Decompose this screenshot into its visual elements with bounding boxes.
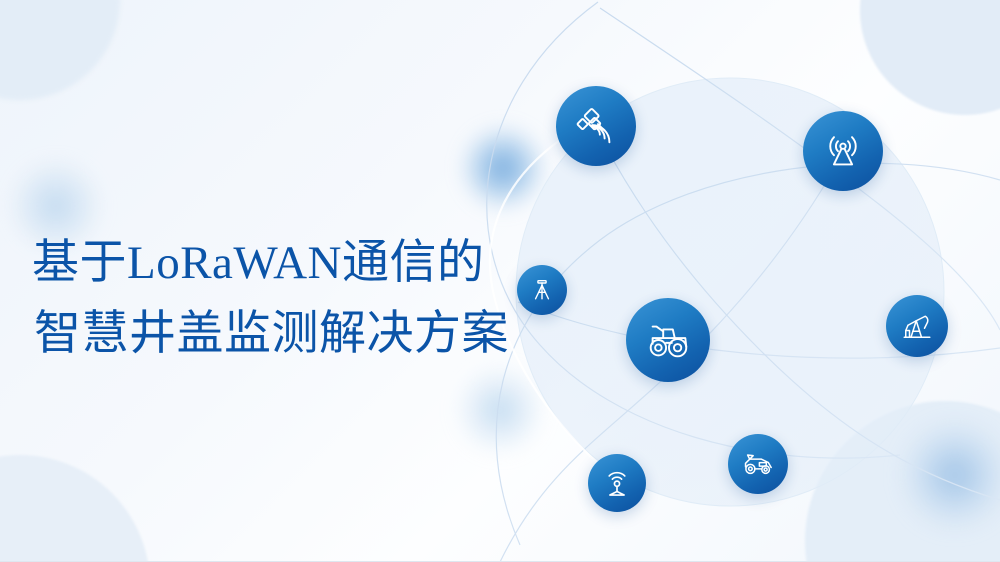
orbit-arc-6 [600, 8, 1000, 330]
node-tractor[interactable] [626, 298, 710, 382]
node-survey-tripod[interactable] [517, 265, 567, 315]
node-oil-pumpjack[interactable] [886, 295, 948, 357]
title-slide: 基于LoRaWAN通信的 智慧井盖监测解决方案 [0, 0, 1000, 562]
blur-dot-right [900, 420, 1000, 530]
harvester-icon [740, 446, 776, 482]
title-line-1: 基于LoRaWAN通信的 [32, 228, 572, 299]
node-satellite[interactable] [556, 86, 636, 166]
tractor-icon [643, 315, 693, 365]
blob-bottom-left [0, 455, 150, 562]
page-title: 基于LoRaWAN通信的 智慧井盖监测解决方案 [32, 228, 572, 371]
oil-pumpjack-icon [899, 308, 935, 344]
blob-top-right [860, 0, 1000, 115]
survey-tripod-icon [528, 276, 556, 304]
blur-dot-mid [460, 125, 546, 211]
radio-tower-icon [820, 128, 866, 174]
blob-bottom-right [805, 401, 1000, 562]
blur-dot-lower [455, 365, 545, 455]
blob-top-left [0, 0, 120, 100]
node-radio-tower[interactable] [803, 111, 883, 191]
node-harvester[interactable] [728, 434, 788, 494]
satellite-icon [573, 103, 619, 149]
wireless-sensor-icon [600, 466, 634, 500]
title-line-2: 智慧井盖监测解决方案 [32, 299, 572, 370]
node-wireless-sensor[interactable] [588, 454, 646, 512]
